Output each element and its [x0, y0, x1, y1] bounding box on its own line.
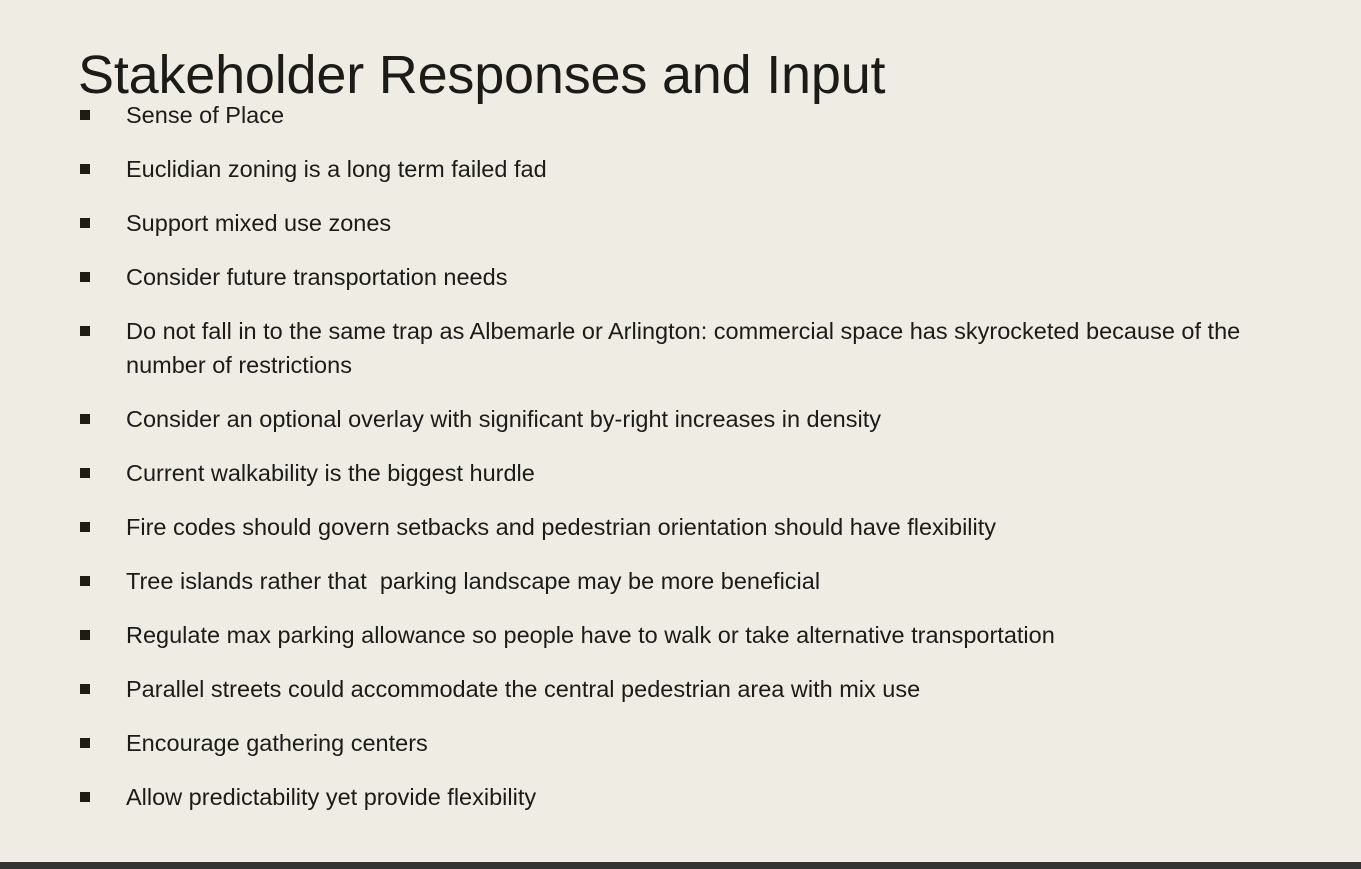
slide-bottom-accent-bar — [0, 862, 1361, 869]
list-item-label: Tree islands rather that parking landsca… — [126, 564, 1288, 598]
list-item: Fire codes should govern setbacks and pe… — [78, 510, 1288, 544]
list-item-label: Allow predictability yet provide flexibi… — [126, 780, 1288, 814]
list-item: Support mixed use zones — [78, 206, 1288, 240]
presentation-slide: Stakeholder Responses and Input Sense of… — [0, 0, 1361, 869]
list-item: Do not fall in to the same trap as Albem… — [78, 314, 1288, 382]
list-item-label: Fire codes should govern setbacks and pe… — [126, 510, 1288, 544]
list-item-label: Sense of Place — [126, 98, 1288, 132]
filled-square-bullet-icon — [80, 218, 90, 228]
list-item: Consider future transportation needs — [78, 260, 1288, 294]
filled-square-bullet-icon — [80, 684, 90, 694]
list-item: Sense of Place — [78, 98, 1288, 132]
bullet-list: Sense of Place Euclidian zoning is a lon… — [78, 98, 1288, 814]
list-item-label: Current walkability is the biggest hurdl… — [126, 456, 1288, 490]
list-item-label: Parallel streets could accommodate the c… — [126, 672, 1288, 706]
filled-square-bullet-icon — [80, 468, 90, 478]
filled-square-bullet-icon — [80, 272, 90, 282]
filled-square-bullet-icon — [80, 630, 90, 640]
list-item: Tree islands rather that parking landsca… — [78, 564, 1288, 598]
filled-square-bullet-icon — [80, 738, 90, 748]
list-item-label: Consider an optional overlay with signif… — [126, 402, 1288, 436]
filled-square-bullet-icon — [80, 110, 90, 120]
filled-square-bullet-icon — [80, 576, 90, 586]
list-item: Parallel streets could accommodate the c… — [78, 672, 1288, 706]
filled-square-bullet-icon — [80, 522, 90, 532]
filled-square-bullet-icon — [80, 792, 90, 802]
filled-square-bullet-icon — [80, 414, 90, 424]
list-item: Consider an optional overlay with signif… — [78, 402, 1288, 436]
filled-square-bullet-icon — [80, 326, 90, 336]
list-item-label: Euclidian zoning is a long term failed f… — [126, 152, 1288, 186]
list-item: Encourage gathering centers — [78, 726, 1288, 760]
list-item: Euclidian zoning is a long term failed f… — [78, 152, 1288, 186]
list-item: Allow predictability yet provide flexibi… — [78, 780, 1288, 814]
filled-square-bullet-icon — [80, 164, 90, 174]
list-item-label: Consider future transportation needs — [126, 260, 1288, 294]
list-item: Regulate max parking allowance so people… — [78, 618, 1288, 652]
list-item-label: Support mixed use zones — [126, 206, 1288, 240]
list-item-label: Regulate max parking allowance so people… — [126, 618, 1288, 652]
list-item: Current walkability is the biggest hurdl… — [78, 456, 1288, 490]
list-item-label: Do not fall in to the same trap as Albem… — [126, 314, 1288, 382]
list-item-label: Encourage gathering centers — [126, 726, 1288, 760]
